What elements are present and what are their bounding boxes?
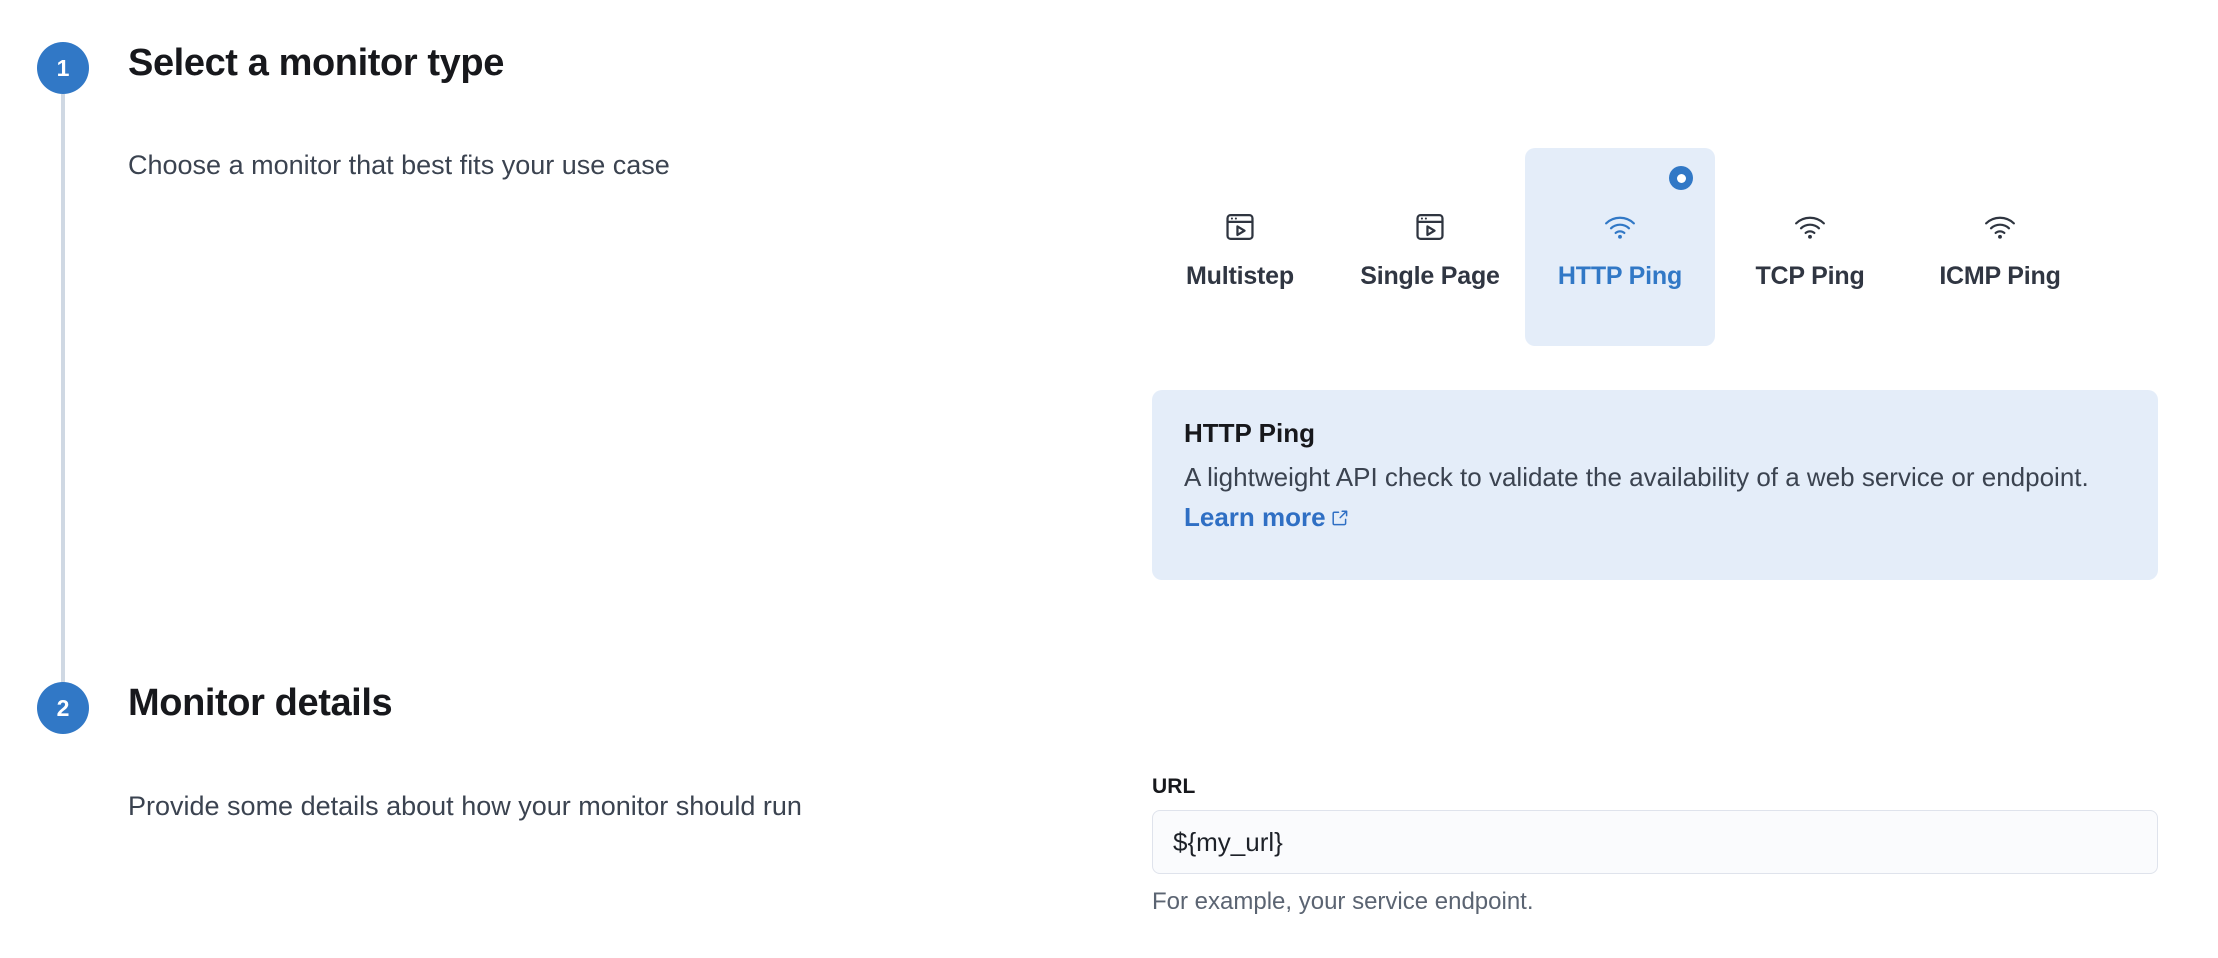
learn-more-label: Learn more (1184, 502, 1326, 532)
monitor-type-option-tcp-ping[interactable]: TCP Ping (1715, 148, 1905, 346)
step-number-2: 2 (57, 695, 70, 722)
monitor-type-option-multistep[interactable]: Multistep (1145, 148, 1335, 346)
monitor-type-label: Multistep (1186, 262, 1294, 291)
url-field-help-text: For example, your service endpoint. (1152, 888, 1534, 916)
info-panel-title: HTTP Ping (1184, 418, 2126, 449)
external-link-icon (1330, 499, 1350, 539)
wifi-icon (1982, 206, 2018, 248)
section-description-monitor-details: Provide some details about how your moni… (128, 791, 802, 822)
url-input[interactable] (1152, 810, 2158, 874)
monitor-type-selector: Multistep Single Page (1145, 148, 2095, 346)
monitor-type-label: HTTP Ping (1558, 262, 1682, 291)
monitor-type-option-http-ping[interactable]: HTTP Ping (1525, 148, 1715, 346)
step-indicator-1: 1 (37, 42, 89, 94)
monitor-type-label: TCP Ping (1755, 262, 1864, 291)
monitor-setup-page: 1 Select a monitor type Choose a monitor… (0, 0, 2218, 958)
radio-selected-icon[interactable] (1669, 166, 1693, 190)
stepper-connector-line (61, 94, 65, 694)
monitor-type-label: ICMP Ping (1939, 262, 2060, 291)
monitor-type-info-panel: HTTP Ping A lightweight API check to val… (1152, 390, 2158, 580)
url-field-label: URL (1152, 775, 1195, 799)
step-number-1: 1 (57, 55, 70, 82)
section-description-select-monitor-type: Choose a monitor that best fits your use… (128, 150, 670, 181)
step-indicator-2: 2 (37, 682, 89, 734)
info-panel-body: A lightweight API check to validate the … (1184, 457, 2114, 539)
learn-more-link[interactable]: Learn more (1184, 502, 1350, 532)
section-title-select-monitor-type: Select a monitor type (128, 42, 504, 85)
wifi-icon (1602, 206, 1638, 248)
browser-play-icon (1223, 206, 1257, 248)
monitor-type-option-icmp-ping[interactable]: ICMP Ping (1905, 148, 2095, 346)
section-title-monitor-details: Monitor details (128, 682, 392, 725)
info-panel-description: A lightweight API check to validate the … (1184, 462, 2089, 492)
browser-play-icon (1413, 206, 1447, 248)
wifi-icon (1792, 206, 1828, 248)
monitor-type-option-single-page[interactable]: Single Page (1335, 148, 1525, 346)
monitor-type-label: Single Page (1360, 262, 1500, 291)
